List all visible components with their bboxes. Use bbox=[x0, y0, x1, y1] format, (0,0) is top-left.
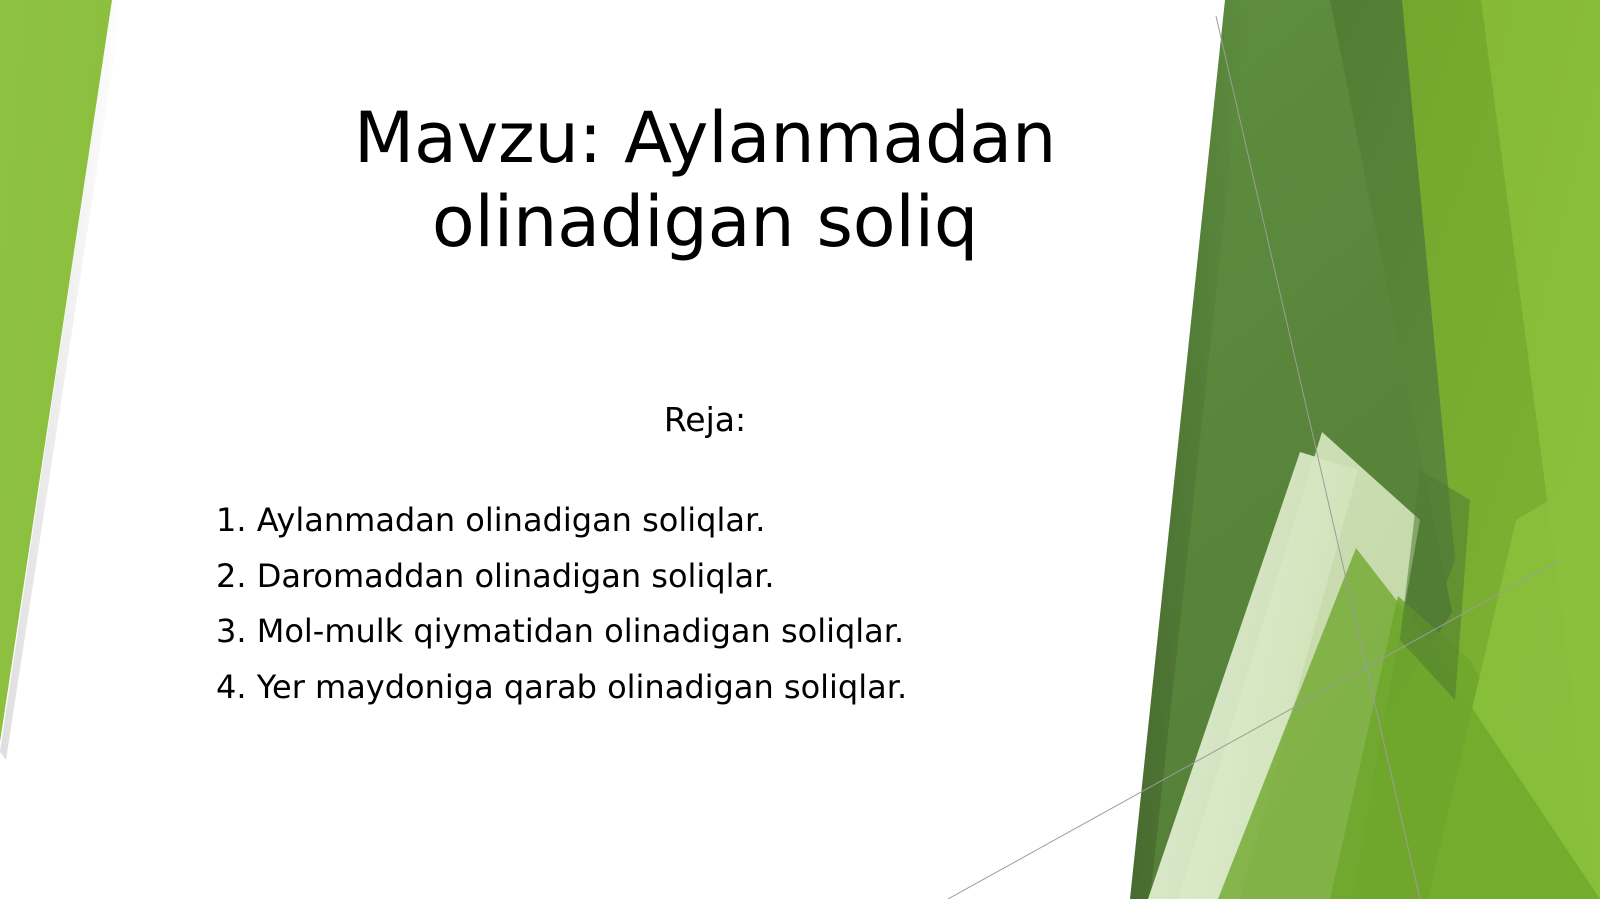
list-item: 4. Yer maydoniga qarab olinadigan soliql… bbox=[216, 660, 1216, 716]
presentation-slide: Mavzu: Aylanmadan olinadigan soliq Reja:… bbox=[0, 0, 1600, 899]
agenda-heading: Reja: bbox=[180, 398, 1230, 442]
agenda-list: 1. Aylanmadan olinadigan soliqlar. 2. Da… bbox=[216, 493, 1216, 715]
list-item: 1. Aylanmadan olinadigan soliqlar. bbox=[216, 493, 1216, 549]
slide-content: Mavzu: Aylanmadan olinadigan soliq Reja:… bbox=[0, 0, 1600, 899]
list-item: 3. Mol-mulk qiymatidan olinadigan soliql… bbox=[216, 604, 1216, 660]
slide-title: Mavzu: Aylanmadan olinadigan soliq bbox=[180, 96, 1230, 264]
list-item: 2. Daromaddan olinadigan soliqlar. bbox=[216, 549, 1216, 605]
